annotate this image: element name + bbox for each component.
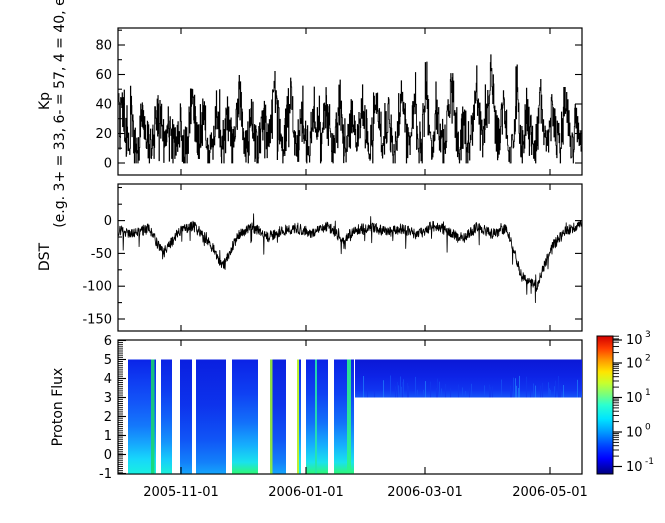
- kp-axis-title-line1: Kp: [37, 92, 53, 110]
- pf-ytick-5: 5: [104, 353, 112, 368]
- kp-ytick-60: 60: [95, 68, 112, 83]
- pf-ytick-1: 1: [104, 429, 112, 444]
- cb-label-mantissa-1: 10: [626, 426, 643, 441]
- dst-panel: -150 -100 -50 0 DST: [37, 184, 582, 331]
- dst-axis-title: DST: [37, 242, 53, 271]
- dst-ytick-0: 0: [104, 214, 112, 229]
- xtick-2006-03-01: 2006-03-01: [387, 485, 463, 500]
- colorbar: 10 -1 10 0 10 1 10 2 10 3: [597, 330, 654, 475]
- dst-ytick-n150: -150: [82, 313, 112, 328]
- pf-ytick-4: 4: [104, 372, 112, 387]
- xtick-2006-05-01: 2006-05-01: [512, 485, 588, 500]
- pf-ytick-6: 6: [104, 334, 112, 349]
- cb-label-mantissa-2: 10: [626, 391, 643, 406]
- x-axis-labels: 2005-11-01 2006-01-01 2006-03-01 2006-05…: [143, 485, 588, 500]
- xtick-2006-01-01: 2006-01-01: [268, 485, 344, 500]
- cb-label-exponent-2: 1: [645, 388, 651, 398]
- dst-ytick-n100: -100: [82, 280, 112, 295]
- xtick-2005-11-01: 2005-11-01: [143, 485, 219, 500]
- kp-ytick-80: 80: [95, 39, 112, 54]
- cb-label-mantissa-3: 10: [626, 357, 643, 372]
- cb-label-exponent-1: 0: [645, 423, 651, 433]
- cb-label-exponent-3: 2: [645, 354, 651, 364]
- pf-ytick-n1: -1: [99, 467, 112, 482]
- pf-ytick-0: 0: [104, 448, 112, 463]
- cb-label-mantissa-0: 10: [626, 460, 643, 475]
- kp-ytick-0: 0: [104, 157, 112, 172]
- colorbar-tick-labels: 10 -1 10 0 10 1 10 2 10 3: [626, 330, 654, 475]
- proton-flux-axis-title: Proton Flux: [50, 368, 66, 447]
- cb-label-exponent-4: 3: [645, 330, 651, 340]
- proton-flux-figure: 0 20 40 60 80 Kp (e.g. 3+ = 33, 6- = 57,…: [0, 0, 665, 523]
- kp-axis-title-line2: (e.g. 3+ = 33, 6- = 57, 4 = 40, etc.): [52, 0, 68, 228]
- colorbar-major-ticks: [613, 340, 622, 467]
- cb-label-exponent-0: -1: [645, 457, 654, 467]
- kp-ytick-20: 20: [95, 127, 112, 142]
- proton-flux-panel: 6 5 4 3 2 1 0 -1 Proton Flux: [50, 334, 582, 482]
- pf-ytick-2: 2: [104, 410, 112, 425]
- dst-ytick-n50: -50: [91, 247, 112, 262]
- cb-label-mantissa-4: 10: [626, 333, 643, 348]
- colorbar-gradient: [597, 336, 613, 474]
- pf-ytick-3: 3: [104, 391, 112, 406]
- colorbar-minor-ticks: [613, 336, 619, 456]
- kp-ytick-40: 40: [95, 98, 112, 113]
